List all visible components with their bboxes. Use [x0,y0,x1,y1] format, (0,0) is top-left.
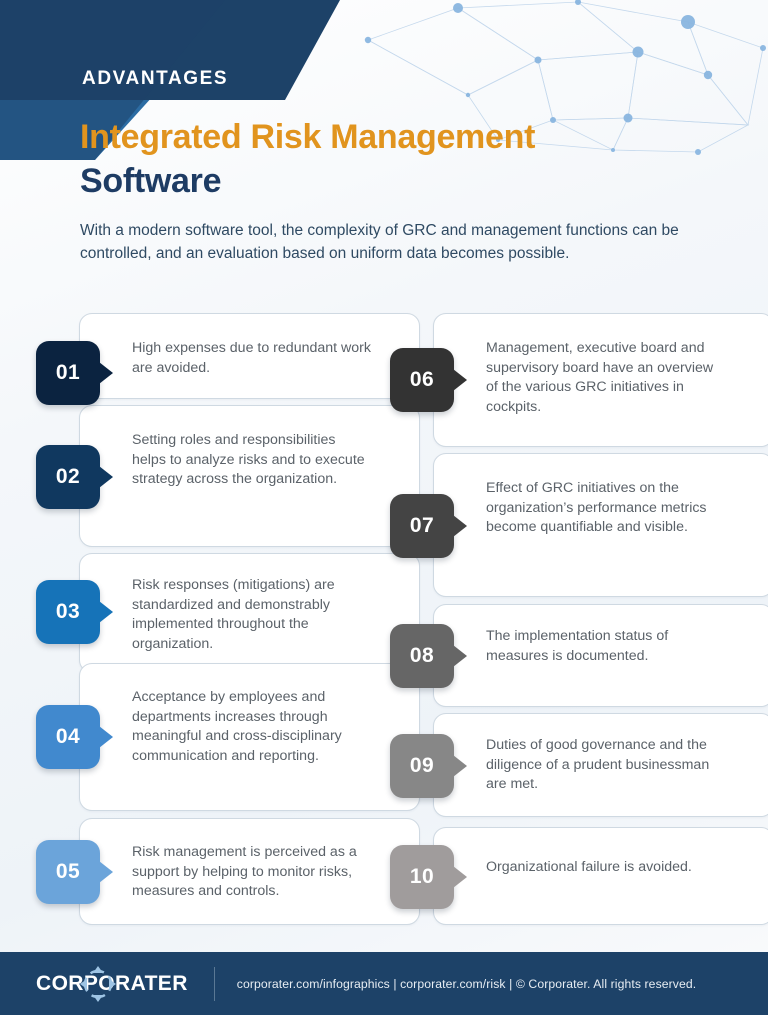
advantage-text: Effect of GRC initiatives on the organiz… [486,479,718,538]
advantage-text: High expenses due to redundant work are … [132,339,372,378]
title-line-primary: Integrated Risk Management [80,115,720,159]
advantage-number-badge: 10 [390,845,454,909]
advantage-text: The implementation status of measures is… [486,627,718,666]
advantage-card: Setting roles and responsibilities helps… [79,405,420,547]
advantage-number: 02 [56,465,80,489]
title-line-secondary: Software [80,159,720,203]
advantage-text: Organizational failure is avoided. [486,858,718,878]
advantage-number-badge: 06 [390,348,454,412]
advantage-number: 03 [56,600,80,624]
advantage-number: 07 [410,514,434,538]
advantage-number-badge: 04 [36,705,100,769]
advantage-number: 05 [56,860,80,884]
advantage-card: Acceptance by employees and departments … [79,663,420,811]
advantage-text: Risk responses (mitigations) are standar… [132,576,380,654]
advantage-text: Acceptance by employees and departments … [132,688,377,766]
advantage-text: Management, executive board and supervis… [486,339,718,417]
advantage-text: Setting roles and responsibilities helps… [132,431,372,490]
subtitle-text: With a modern software tool, the complex… [80,219,680,265]
advantage-number: 10 [410,865,434,889]
advantage-card: Risk management is perceived as a suppor… [79,818,420,925]
advantage-card: Risk responses (mitigations) are standar… [79,553,420,673]
header: ADVANTAGES Integrated Risk Management So… [0,0,768,300]
advantage-number: 04 [56,725,80,749]
footer-divider [214,967,215,1001]
advantage-card: Effect of GRC initiatives on the organiz… [433,453,768,597]
brand-logo[interactable]: CORPORATER [36,964,188,1004]
advantage-number: 08 [410,644,434,668]
crosshair-target-icon [77,963,119,1005]
eyebrow-label: ADVANTAGES [82,68,228,90]
advantage-number-badge: 07 [390,494,454,558]
advantage-number: 06 [410,368,434,392]
advantage-number-badge: 01 [36,341,100,405]
footer-links: corporater.com/infographics | corporater… [237,977,696,991]
advantage-number-badge: 02 [36,445,100,509]
advantage-number: 09 [410,754,434,778]
advantage-text: Duties of good governance and the dilige… [486,736,718,795]
advantage-card: Management, executive board and supervis… [433,313,768,447]
advantage-number-badge: 08 [390,624,454,688]
advantage-card: High expenses due to redundant work are … [79,313,420,399]
infographic-page: ADVANTAGES Integrated Risk Management So… [0,0,768,1015]
advantage-card: The implementation status of measures is… [433,604,768,707]
advantage-number-badge: 03 [36,580,100,644]
advantage-card: Duties of good governance and the dilige… [433,713,768,817]
footer: CORPORATER corporater.com/infographics |… [0,952,768,1015]
page-title: Integrated Risk Management Software [80,115,720,203]
advantage-text: Risk management is perceived as a suppor… [132,843,377,902]
advantage-number-badge: 09 [390,734,454,798]
advantage-number-badge: 05 [36,840,100,904]
advantage-card: Organizational failure is avoided. [433,827,768,925]
advantage-number: 01 [56,361,80,385]
